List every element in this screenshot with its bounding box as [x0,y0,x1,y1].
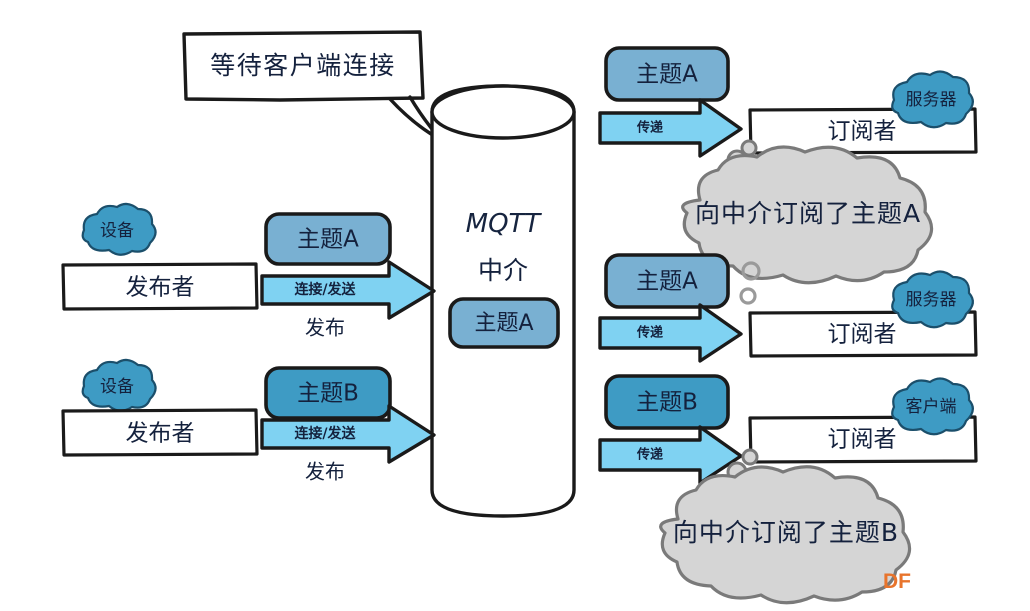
subscriber-3-badge-label: 客户端 [906,397,957,417]
publisher-1-box-label: 发布者 [126,275,195,301]
subscriber-1-topic-label: 主题A [636,62,698,88]
subscriber-2-topic-label: 主题A [636,269,698,295]
subscriber-1-topic-badge: 主题A [606,48,728,100]
publisher-2-arrow-caption: 发布 [305,460,345,484]
broker-stored-topic-badge: 主题A [450,299,558,347]
publisher-2-badge: 设备 [83,360,156,411]
thought-tail-dot [741,289,755,303]
mqtt-broker-cylinder: MQTT 中介 主题A [432,86,574,516]
subscriber-1-arrow-label: 传递 [636,120,663,136]
subscriber-1-badge: 服务器 [892,71,973,127]
subscriber-2-box-label: 订阅者 [828,322,897,348]
subscriber-1-arrow: 传递 [600,100,741,156]
subscriber-3-badge: 客户端 [892,378,973,434]
broker-role: 中介 [478,256,528,285]
publisher-2-box-label: 发布者 [126,421,195,447]
publisher-row-2: 设备 发布者 主题B 连接/发送 发布 [63,360,434,484]
subscriber-3-box-label: 订阅者 [828,427,897,453]
subscriber-row-3: 主题B 传递 订阅者 客户端 [600,376,976,483]
publisher-1-badge: 设备 [83,204,156,255]
subscriber-2-arrow-label: 传递 [636,325,663,341]
thought-cloud-1-text: 向中介订阅了主题A [695,199,921,228]
publisher-1-badge-label: 设备 [100,221,134,241]
subscriber-3-topic-badge: 主题B [606,376,728,428]
diagram-canvas: 等待客户端连接 MQTT 中介 主题A 设备 发布者 主题A [0,0,1030,611]
broker-name: MQTT [466,209,543,239]
publisher-1-arrow: 连接/发送 [262,262,434,318]
mqtt-architecture-diagram: 等待客户端连接 MQTT 中介 主题A 设备 发布者 主题A [0,0,1030,611]
subscriber-3-arrow-label: 传递 [636,447,663,463]
subscriber-2-topic-badge: 主题A [606,255,728,307]
publisher-2-topic-badge: 主题B [266,368,390,418]
publisher-1-topic-label: 主题A [297,227,359,253]
publisher-2-arrow-label: 连接/发送 [294,425,356,442]
publisher-row-1: 设备 发布者 主题A 连接/发送 发布 [63,204,434,340]
subscriber-2-arrow: 传递 [600,305,741,361]
publisher-1-arrow-label: 连接/发送 [294,281,356,298]
subscriber-3-topic-label: 主题B [636,390,698,416]
publisher-1-arrow-caption: 发布 [305,316,345,340]
publisher-1-topic-badge: 主题A [266,214,390,264]
subscriber-2-badge: 服务器 [892,271,973,327]
subscriber-1-box-label: 订阅者 [828,119,897,145]
callout-text: 等待客户端连接 [210,51,396,80]
thought-cloud-2-text: 向中介订阅了主题B [673,518,899,547]
subscriber-2-badge-label: 服务器 [906,290,957,310]
publisher-2-badge-label: 设备 [100,377,134,397]
subscriber-1-badge-label: 服务器 [906,90,957,110]
broker-callout: 等待客户端连接 [184,32,441,140]
df-watermark: DF [883,570,911,593]
thought-cloud-2: 向中介订阅了主题B [661,467,910,603]
publisher-2-topic-label: 主题B [297,381,359,407]
thought-tail-dot [743,450,757,464]
broker-stored-topic-label: 主题A [474,311,533,336]
